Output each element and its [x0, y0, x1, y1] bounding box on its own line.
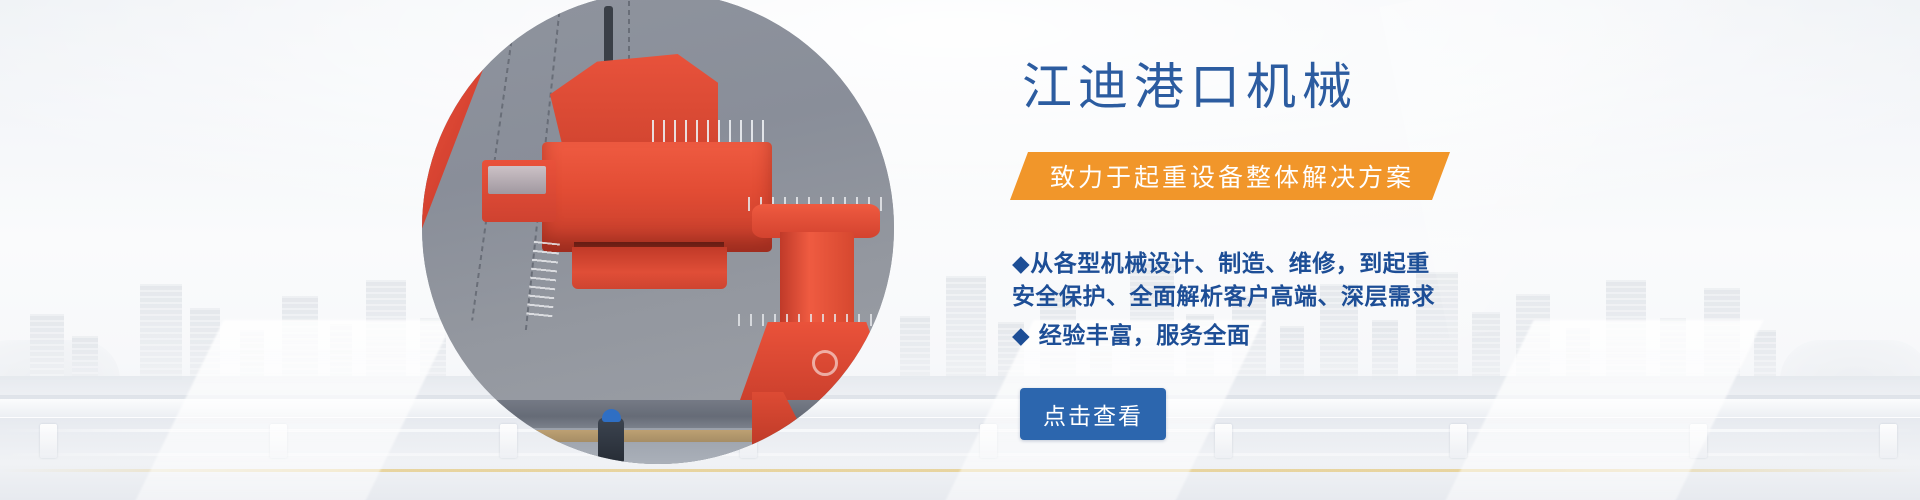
feature-line-1: ◆从各型机械设计、制造、维修，到起重	[1012, 248, 1435, 281]
feature-block-primary: ◆从各型机械设计、制造、维修，到起重 安全保护、全面解析客户高端、深层需求	[1012, 248, 1435, 314]
page-title: 江迪港口机械	[1022, 62, 1358, 112]
banner-content: 江迪港口机械 致力于起重设备整体解决方案 ◆从各型机械设计、制造、维修，到起重 …	[1010, 0, 1770, 500]
feature-line-3: ◆ 经验丰富，服务全面	[1012, 320, 1250, 353]
crane-photo-circle	[422, 0, 894, 464]
worker-figure	[598, 418, 624, 462]
slogan-ribbon: 致力于起重设备整体解决方案	[1010, 152, 1450, 200]
cta-button[interactable]: 点击查看	[1020, 388, 1166, 440]
feature-line-2: 安全保护、全面解析客户高端、深层需求	[1012, 281, 1435, 314]
slogan-text: 致力于起重设备整体解决方案	[1050, 158, 1414, 194]
worker-helmet	[602, 409, 621, 422]
hero-banner: 江迪港口机械 致力于起重设备整体解决方案 ◆从各型机械设计、制造、维修，到起重 …	[0, 0, 1920, 500]
